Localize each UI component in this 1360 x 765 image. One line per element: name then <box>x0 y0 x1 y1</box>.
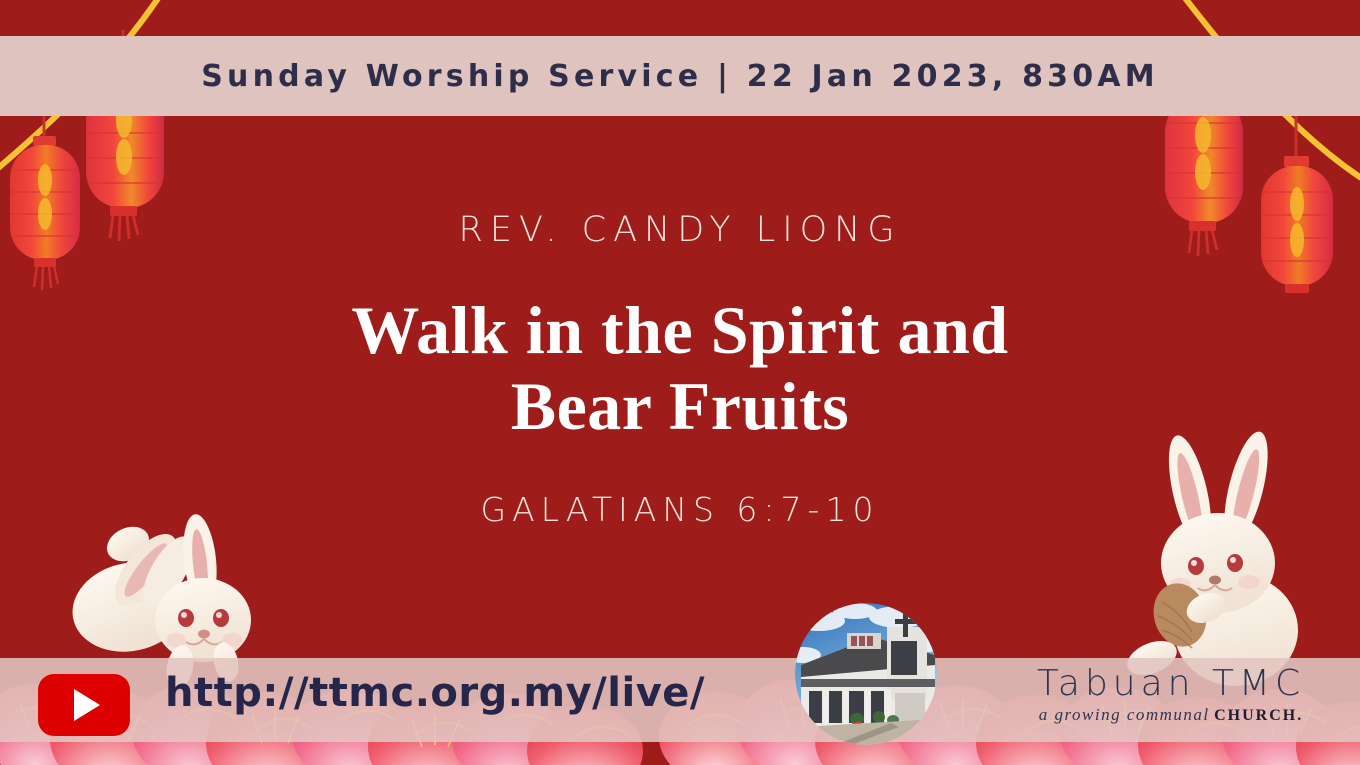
logo-tagline-italic: a growing communal <box>1039 705 1210 724</box>
main-content: REV. CANDY LIONG Walk in the Spirit and … <box>0 210 1360 529</box>
speaker-name: REV. CANDY LIONG <box>0 210 1360 250</box>
logo-tagline: a growing communal CHURCH. <box>1006 705 1336 725</box>
play-triangle-icon <box>74 689 100 721</box>
sermon-slide: Sunday Worship Service | 22 Jan 2023, 83… <box>0 0 1360 765</box>
logo-name: Tabuan TMC <box>1006 665 1336 703</box>
sermon-title-line-1: Walk in the Spirit and <box>230 292 1130 368</box>
church-logo: Tabuan TMC a growing communal CHURCH. <box>1006 665 1336 725</box>
livestream-url[interactable]: http://ttmc.org.my/live/ <box>165 670 705 716</box>
youtube-play-icon[interactable] <box>38 674 130 736</box>
header-banner-text: Sunday Worship Service | 22 Jan 2023, 83… <box>0 36 1360 116</box>
sermon-title: Walk in the Spirit and Bear Fruits <box>230 292 1130 444</box>
logo-tagline-caps: CHURCH. <box>1214 707 1303 724</box>
scripture-reference: GALATIANS 6:7-10 <box>0 490 1360 529</box>
church-building-photo <box>795 603 937 745</box>
sermon-title-line-2: Bear Fruits <box>230 368 1130 444</box>
